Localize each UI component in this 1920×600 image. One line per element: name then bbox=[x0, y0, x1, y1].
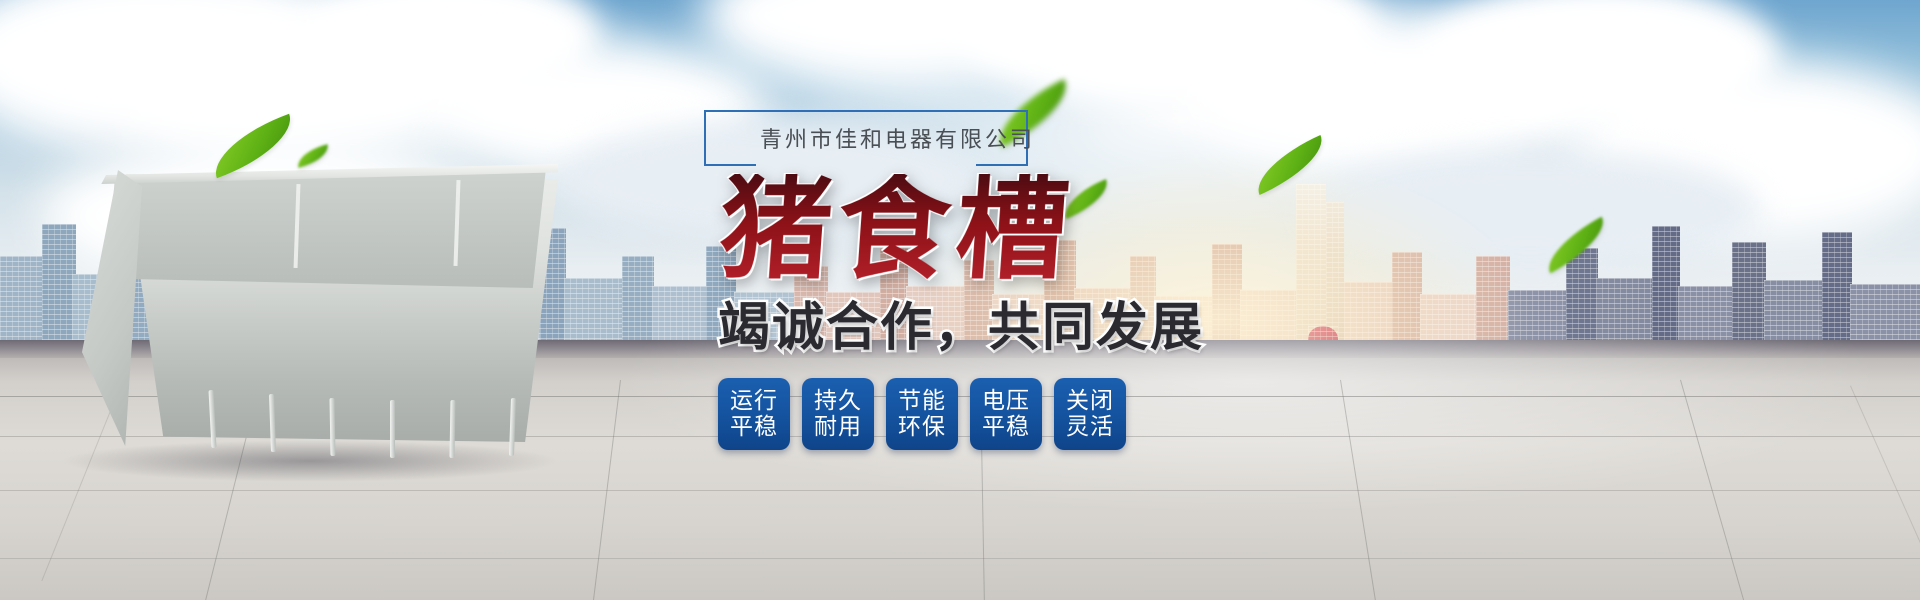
page-title: 猪食槽 bbox=[716, 174, 1078, 286]
feature-badge-durable[interactable]: 持久 耐用 bbox=[802, 378, 874, 450]
feature-badge-line1: 持久 bbox=[814, 388, 862, 414]
banner-text-block: 青州市佳和电器有限公司 猪食槽 竭诚合作，共同发展 运行 平稳 持久 耐用 节能… bbox=[700, 96, 1260, 566]
feature-badge-line1: 运行 bbox=[730, 388, 778, 414]
product-image-pig-feeding-trough bbox=[70, 160, 590, 460]
feature-badge-line2: 环保 bbox=[898, 414, 946, 440]
feature-badge-line2: 耐用 bbox=[814, 414, 862, 440]
feature-badge-line2: 平稳 bbox=[982, 414, 1030, 440]
feature-badge-line2: 平稳 bbox=[730, 414, 778, 440]
feature-badge-flexible-closing[interactable]: 关闭 灵活 bbox=[1054, 378, 1126, 450]
feature-badge-stable-voltage[interactable]: 电压 平稳 bbox=[970, 378, 1042, 450]
feature-badge-line1: 关闭 bbox=[1066, 388, 1114, 414]
feature-badge-energy-saving[interactable]: 节能 环保 bbox=[886, 378, 958, 450]
feature-badge-line1: 节能 bbox=[898, 388, 946, 414]
feature-badge-stable-operation[interactable]: 运行 平稳 bbox=[718, 378, 790, 450]
feature-badge-list: 运行 平稳 持久 耐用 节能 环保 电压 平稳 关闭 灵活 bbox=[718, 378, 1126, 450]
feature-badge-line2: 灵活 bbox=[1066, 414, 1114, 440]
promo-banner: 青州市佳和电器有限公司 猪食槽 竭诚合作，共同发展 运行 平稳 持久 耐用 节能… bbox=[0, 0, 1920, 600]
feature-badge-line1: 电压 bbox=[982, 388, 1030, 414]
banner-subtitle: 竭诚合作，共同发展 bbox=[718, 302, 1204, 354]
company-name: 青州市佳和电器有限公司 bbox=[760, 122, 1060, 154]
